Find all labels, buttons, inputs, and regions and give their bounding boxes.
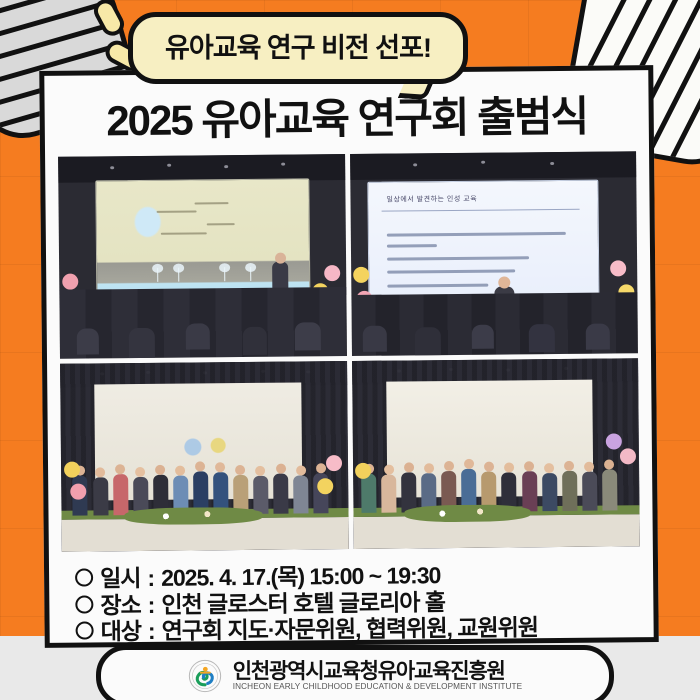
detail-label-date: 일시 <box>100 565 141 592</box>
slide-title: 일상에서 발견하는 인성 교육 <box>386 194 477 205</box>
detail-label-audience: 대상 <box>101 618 142 645</box>
vision-badge: 유아교육 연구 비전 선포! <box>128 12 468 84</box>
detail-value-venue: 인천 글로스터 호텔 글로리아 홀 <box>161 589 445 618</box>
bullet-circle-icon <box>75 568 93 586</box>
detail-row-audience: 대상: 연구회 지도·자문위원, 협력위원, 교원위원 <box>76 613 654 645</box>
footer-org-ko: 인천광역시교육청유아교육진흥원 <box>233 661 522 682</box>
photo-group-photo-stage-1 <box>60 361 348 552</box>
footer-bar: 인천광역시교육청유아교육진흥원 INCHEON EARLY CHILDHOOD … <box>96 645 614 700</box>
incheon-institute-logo-icon <box>188 659 222 693</box>
bullet-circle-icon <box>75 595 93 613</box>
photo-group-photo-stage-2 <box>352 358 640 549</box>
photo-grid: 일상에서 발견하는 인성 교육 <box>58 151 640 552</box>
photo-keynote-lecture: 일상에서 발견하는 인성 교육 <box>350 151 638 356</box>
detail-value-audience: 연구회 지도·자문위원, 협력위원, 교원위원 <box>162 615 539 645</box>
photo-opening-ceremony-presentation <box>58 154 346 359</box>
detail-label-venue: 장소 <box>100 592 141 619</box>
footer-org-en: INCHEON EARLY CHILDHOOD EDUCATION & DEVE… <box>233 683 522 691</box>
event-details: 일시: 2025. 4. 17.(목) 15:00 ~ 19:30 장소: 인천… <box>75 560 654 646</box>
detail-value-date: 2025. 4. 17.(목) 15:00 ~ 19:30 <box>161 562 440 591</box>
poster-card: 2025 유아교육 연구회 출범식 <box>39 65 659 648</box>
badge-label: 유아교육 연구 비전 선포! <box>165 35 431 62</box>
bullet-circle-icon <box>76 622 94 640</box>
page-title: 2025 유아교육 연구회 출범식 <box>45 95 649 143</box>
event-poster: 유아교육 연구 비전 선포! 2025 유아교육 연구회 출범식 <box>0 0 700 700</box>
